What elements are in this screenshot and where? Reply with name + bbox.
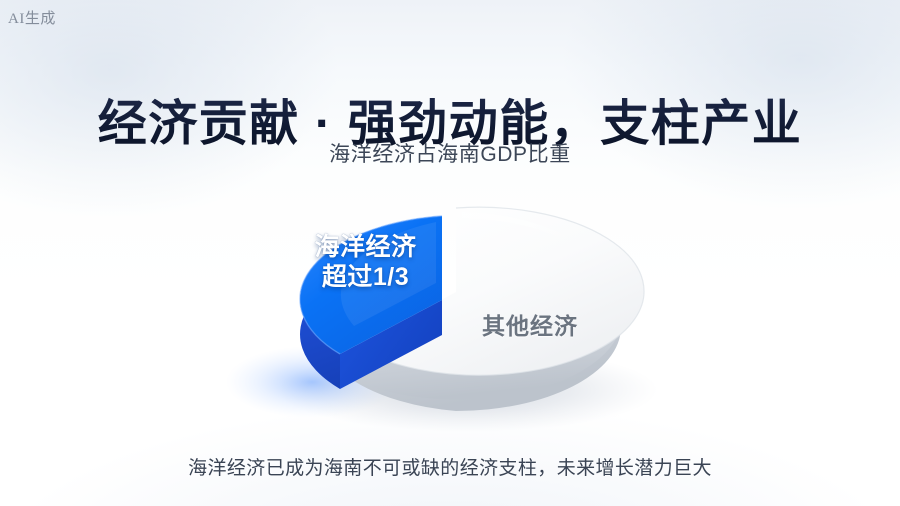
page-subtitle: 海洋经济占海南GDP比重 [0, 140, 900, 170]
slide-root: AI生成 经济贡献 · 强劲动能，支柱产业 海洋经济占海南GDP比重 [0, 0, 900, 506]
footer-caption: 海洋经济已成为海南不可或缺的经济支柱，未来增长潜力巨大 [0, 455, 900, 483]
pie-chart [200, 172, 700, 427]
ai-generated-watermark: AI生成 [8, 7, 56, 28]
